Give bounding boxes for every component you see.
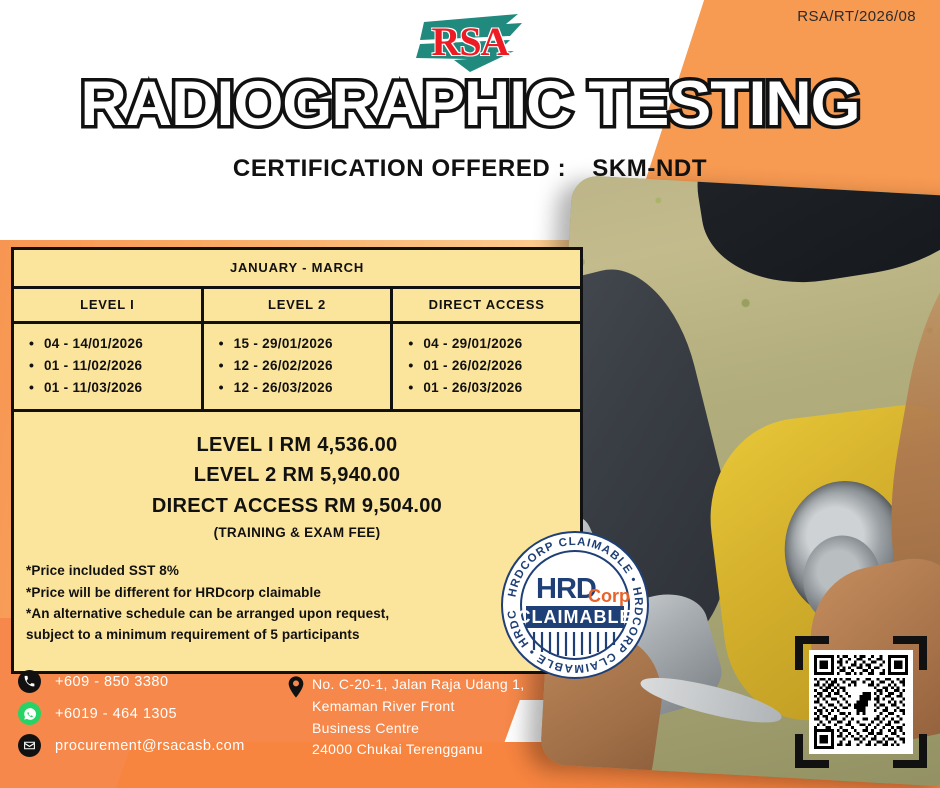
date-list-direct-access: 04 - 29/01/2026 01 - 26/02/2026 01 - 26/… [401, 333, 580, 399]
qr-code-icon [814, 655, 908, 749]
schedule-dates-row: 04 - 14/01/2026 01 - 11/02/2026 01 - 11/… [14, 324, 580, 412]
address-line: Kemaman River Front [312, 696, 524, 718]
address-line: Business Centre [312, 718, 524, 740]
disclaimer-notes: *Price included SST 8% *Price will be di… [14, 540, 580, 661]
schedule-period-title: JANUARY - MARCH [14, 250, 580, 289]
column-header-direct-access: DIRECT ACCESS [390, 289, 580, 321]
note-line: *Price included SST 8% [26, 560, 580, 581]
list-item: 01 - 26/02/2026 [401, 355, 580, 377]
list-item: 01 - 11/02/2026 [22, 355, 201, 377]
badge-claimable-text: CLAIMABLE [518, 607, 633, 627]
list-item: 04 - 14/01/2026 [22, 333, 201, 355]
contact-list: +609 - 850 3380 +6019 - 464 1305 procure… [18, 670, 245, 766]
price-level-1: LEVEL I RM 4,536.00 [14, 430, 580, 460]
address-lines: No. C-20-1, Jalan Raja Udang 1, Kemaman … [312, 674, 524, 761]
date-list-level-1: 04 - 14/01/2026 01 - 11/02/2026 01 - 11/… [22, 333, 201, 399]
address-line: 24000 Chukai Terengganu [312, 739, 524, 761]
location-pin-icon [288, 674, 304, 761]
column-header-level-1: LEVEL I [14, 289, 201, 321]
contact-email[interactable]: procurement@rsacasb.com [18, 734, 245, 757]
address-block: No. C-20-1, Jalan Raja Udang 1, Kemaman … [288, 674, 524, 761]
address-line: No. C-20-1, Jalan Raja Udang 1, [312, 674, 524, 696]
whatsapp-icon [18, 702, 41, 725]
page-title: RADIOGRAPHIC TESTING [0, 73, 940, 136]
badge-corp-text: Corp [588, 586, 630, 606]
qr-code-block[interactable] [795, 636, 927, 768]
schedule-table: JANUARY - MARCH LEVEL I LEVEL 2 DIRECT A… [11, 247, 583, 674]
hrdcorp-claimable-badge: HRDCORP CLAIMABLE • HRDCORP CLAIMABLE • … [500, 530, 650, 680]
dates-cell-direct-access: 04 - 29/01/2026 01 - 26/02/2026 01 - 26/… [390, 324, 580, 409]
email-icon [18, 734, 41, 757]
contact-phone-value: +609 - 850 3380 [55, 674, 169, 690]
phone-icon [18, 670, 41, 693]
price-direct-access: DIRECT ACCESS RM 9,504.00 [14, 491, 580, 521]
contact-whatsapp[interactable]: +6019 - 464 1305 [18, 702, 245, 725]
price-level-2: LEVEL 2 RM 5,940.00 [14, 460, 580, 490]
logo-text: RSA [410, 10, 530, 72]
price-note: (TRAINING & EXAM FEE) [14, 525, 580, 540]
pricing-section: LEVEL I RM 4,536.00 LEVEL 2 RM 5,940.00 … [14, 412, 580, 671]
list-item: 01 - 26/03/2026 [401, 377, 580, 399]
badge-hrd-text: HRD [536, 573, 596, 605]
contact-email-value: procurement@rsacasb.com [55, 738, 245, 754]
date-list-level-2: 15 - 29/01/2026 12 - 26/02/2026 12 - 26/… [212, 333, 391, 399]
hrdcorp-badge-icon: HRDCORP CLAIMABLE • HRDCORP CLAIMABLE • … [500, 530, 650, 680]
column-header-level-2: LEVEL 2 [201, 289, 391, 321]
dates-cell-level-2: 15 - 29/01/2026 12 - 26/02/2026 12 - 26/… [201, 324, 391, 409]
list-item: 01 - 11/03/2026 [22, 377, 201, 399]
note-line: *Price will be different for HRDcorp cla… [26, 582, 580, 603]
contact-phone[interactable]: +609 - 850 3380 [18, 670, 245, 693]
list-item: 04 - 29/01/2026 [401, 333, 580, 355]
note-line: *An alternative schedule can be arranged… [26, 603, 580, 624]
rsa-logo: RSA [410, 10, 530, 72]
list-item: 15 - 29/01/2026 [212, 333, 391, 355]
certification-value: SKM-NDT [592, 155, 707, 182]
list-item: 12 - 26/03/2026 [212, 377, 391, 399]
list-item: 12 - 26/02/2026 [212, 355, 391, 377]
contact-whatsapp-value: +6019 - 464 1305 [55, 706, 177, 722]
certification-line: CERTIFICATION OFFERED :SKM-NDT [0, 155, 940, 183]
dates-cell-level-1: 04 - 14/01/2026 01 - 11/02/2026 01 - 11/… [14, 324, 201, 409]
logo-container: RSA [0, 10, 940, 72]
schedule-header-row: LEVEL I LEVEL 2 DIRECT ACCESS [14, 289, 580, 324]
certification-label: CERTIFICATION OFFERED : [233, 155, 566, 182]
note-line: subject to a minimum requirement of 5 pa… [26, 624, 580, 645]
qr-code-image[interactable] [809, 650, 913, 754]
